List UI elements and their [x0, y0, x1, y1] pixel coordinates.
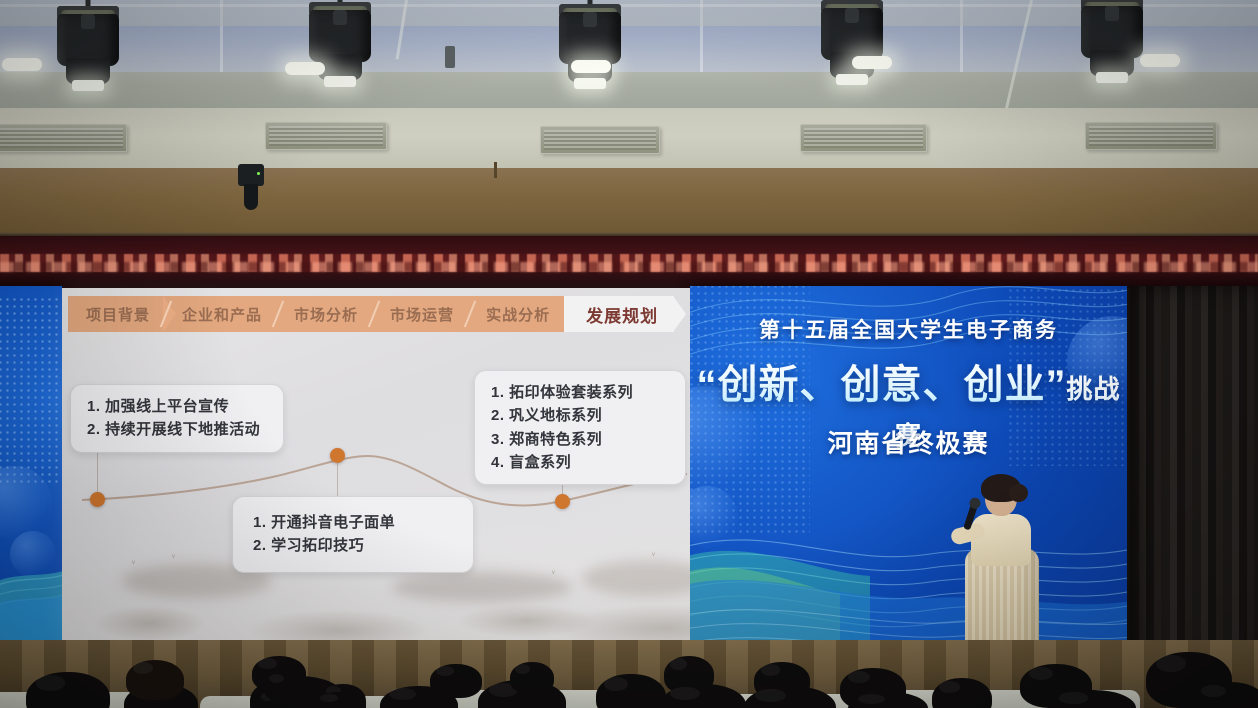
downlight-icon — [852, 56, 892, 69]
card-left: 1. 加强线上平台宣传 2. 持续开展线下地推活动 — [70, 384, 284, 453]
card-item: 4. 盲盒系列 — [491, 451, 669, 474]
audience-head — [510, 662, 554, 694]
presenter-torso — [971, 514, 1031, 566]
card-item: 1. 加强线上平台宣传 — [87, 395, 267, 418]
downlight-icon — [2, 58, 42, 71]
breadcrumb-item-2[interactable]: 市场分析 — [276, 296, 372, 332]
breadcrumb-separator — [160, 301, 172, 328]
breadcrumb-label: 实战分析 — [486, 304, 550, 325]
audience-head — [264, 672, 308, 702]
downlight-icon — [571, 60, 611, 73]
banner-line-2-main: “创新、创意、创业” — [696, 363, 1066, 407]
breadcrumb-label: 发展规划 — [586, 302, 658, 327]
stage-valance — [0, 232, 1258, 288]
lighting-truss — [0, 0, 1258, 26]
led-wave-graphic — [0, 286, 62, 666]
breadcrumb-label: 市场分析 — [294, 304, 358, 325]
breadcrumb-item-5-active[interactable]: 发展规划 — [564, 296, 674, 332]
breadcrumb: 项目背景 企业和产品 市场分析 市场运营 实战分析 发展规划 — [68, 296, 674, 332]
audience-head — [126, 660, 184, 700]
downlight-icon — [1140, 54, 1180, 67]
timeline-dot-3 — [555, 494, 570, 509]
card-item: 2. 持续开展线下地推活动 — [87, 418, 267, 441]
air-vent-icon — [265, 122, 387, 150]
banner-line-1: 第十五届全国大学生电子商务 — [690, 314, 1127, 344]
timeline-dot-1 — [90, 492, 105, 507]
upper-wall — [0, 168, 1258, 236]
ceiling — [0, 0, 1258, 118]
presentation-slide: ᵛ ᵛ ᵛ ᵛ ᵛ 项目背景 企业和产品 市场分析 市场运营 实战分 — [62, 288, 690, 640]
air-vent-icon — [800, 124, 927, 152]
conference-hall-photo: ᵛ ᵛ ᵛ ᵛ ᵛ 项目背景 企业和产品 市场分析 市场运营 实战分 — [0, 0, 1258, 708]
card-item: 1. 拓印体验套装系列 — [491, 381, 669, 404]
card-item: 2. 学习拓印技巧 — [253, 534, 453, 557]
presenter-hair-bun — [1009, 484, 1028, 502]
breadcrumb-label: 企业和产品 — [182, 304, 262, 325]
led-banner: 第十五届全国大学生电子商务 “创新、创意、创业”挑战赛 河南省终极赛 — [690, 286, 1127, 666]
breadcrumb-item-1[interactable]: 企业和产品 — [164, 296, 276, 332]
card-item: 3. 郑商特色系列 — [491, 428, 669, 451]
card-item: 1. 开通抖音电子面单 — [253, 511, 453, 534]
timeline-dot-2 — [330, 448, 345, 463]
card-right: 1. 拓印体验套装系列 2. 巩义地标系列 3. 郑商特色系列 4. 盲盒系列 — [474, 370, 686, 485]
air-vent-icon — [540, 126, 660, 154]
downlight-icon — [285, 62, 325, 75]
breadcrumb-item-3[interactable]: 市场运营 — [372, 296, 468, 332]
audience-head — [596, 674, 666, 708]
card-item: 2. 巩义地标系列 — [491, 404, 669, 427]
air-vent-icon — [0, 124, 127, 152]
card-center: 1. 开通抖音电子面单 2. 学习拓印技巧 — [232, 496, 474, 573]
presenter — [965, 474, 1043, 666]
ceiling-soffit — [0, 108, 1258, 170]
breadcrumb-separator — [368, 301, 380, 328]
breadcrumb-separator — [464, 301, 476, 328]
stage-curtain-right — [1130, 286, 1258, 666]
banner-line-3: 河南省终极赛 — [690, 424, 1127, 460]
breadcrumb-label: 市场运营 — [390, 304, 454, 325]
breadcrumb-item-0[interactable]: 项目背景 — [68, 296, 164, 332]
breadcrumb-label: 项目背景 — [86, 304, 150, 325]
ceiling-sensor-icon — [445, 46, 455, 68]
ceiling-camera-icon — [238, 164, 264, 186]
air-vent-icon — [1085, 122, 1217, 150]
audience-head — [430, 664, 482, 698]
led-wall-left-edge — [0, 286, 62, 666]
breadcrumb-item-4[interactable]: 实战分析 — [468, 296, 564, 332]
breadcrumb-separator — [272, 301, 284, 328]
